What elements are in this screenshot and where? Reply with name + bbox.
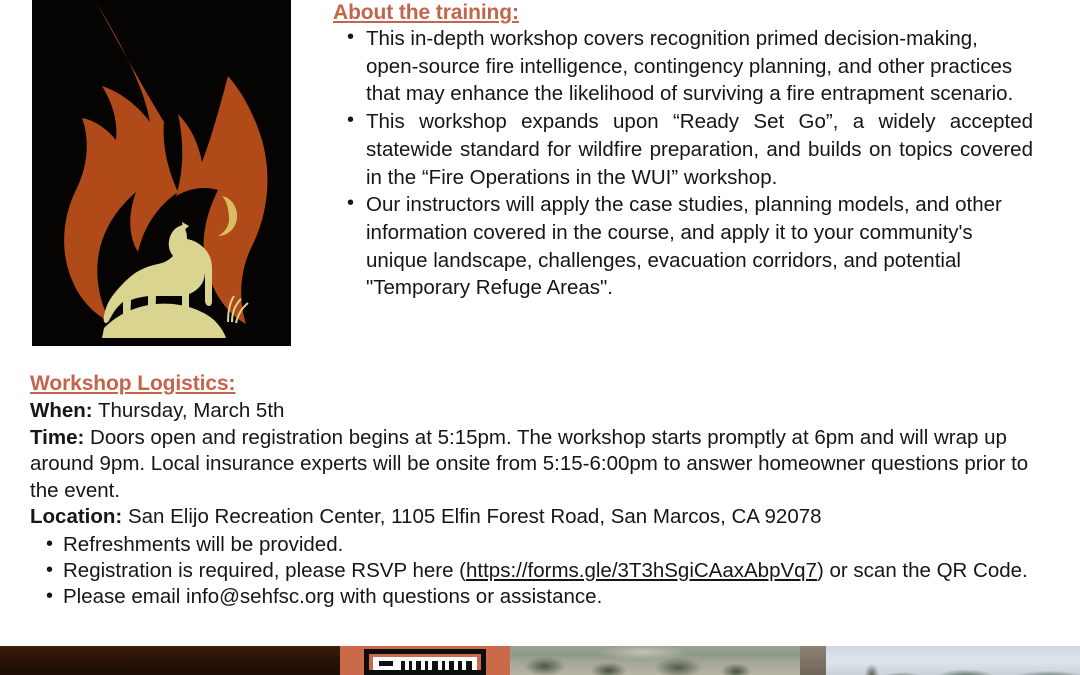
when-value: Thursday, March 5th [98, 399, 284, 422]
registration-prefix: Registration is required, please RSVP he… [63, 559, 466, 582]
registration-suffix: ) or scan the QR Code. [817, 559, 1028, 582]
time-label: Time: [30, 426, 84, 449]
when-label: When: [30, 399, 93, 422]
location-value: San Elijo Recreation Center, 1105 Elfin … [128, 505, 822, 528]
about-heading: About the training: [333, 0, 1033, 25]
list-item: Refreshments will be provided. [30, 532, 1030, 558]
flyer-page: About the training: This in-depth worksh… [0, 0, 1080, 675]
rsvp-form-link[interactable]: https://forms.gle/3T3hSgiCAaxAbpVq7 [466, 559, 817, 582]
rock-photo [800, 646, 826, 675]
list-item: Our instructors will apply the case stud… [333, 191, 1033, 302]
about-bullet-list: This in-depth workshop covers recognitio… [333, 25, 1033, 302]
fire-coyote-logo [32, 0, 291, 346]
time-line: Time: Doors open and registration begins… [30, 425, 1030, 505]
qr-code-photo [340, 646, 510, 675]
workshop-logistics-section: Workshop Logistics: When: Thursday, Marc… [30, 371, 1030, 610]
sky-ridge-photo [826, 646, 1080, 675]
list-item-registration: Registration is required, please RSVP he… [30, 558, 1030, 584]
location-label: Location: [30, 505, 122, 528]
list-item: Please email info@sehfsc.org with questi… [30, 584, 1030, 610]
when-line: When: Thursday, March 5th [30, 398, 1030, 425]
hillside-photo [510, 646, 800, 675]
time-value: Doors open and registration begins at 5:… [30, 426, 1028, 502]
list-item: This in-depth workshop covers recognitio… [333, 25, 1033, 108]
bottom-photo-strip [0, 646, 1080, 675]
list-item: This workshop expands upon “Ready Set Go… [333, 108, 1033, 191]
location-line: Location: San Elijo Recreation Center, 1… [30, 504, 1030, 531]
qr-code-frame [364, 649, 486, 675]
dark-interior-photo [0, 646, 340, 675]
about-training-section: About the training: This in-depth worksh… [333, 0, 1033, 302]
content-area: About the training: This in-depth worksh… [0, 0, 1080, 636]
qr-code-icon [373, 657, 477, 670]
fire-coyote-logo-icon [32, 0, 291, 346]
logistics-bullet-list: Refreshments will be provided. Registrat… [30, 532, 1030, 611]
logistics-heading: Workshop Logistics: [30, 371, 1030, 396]
